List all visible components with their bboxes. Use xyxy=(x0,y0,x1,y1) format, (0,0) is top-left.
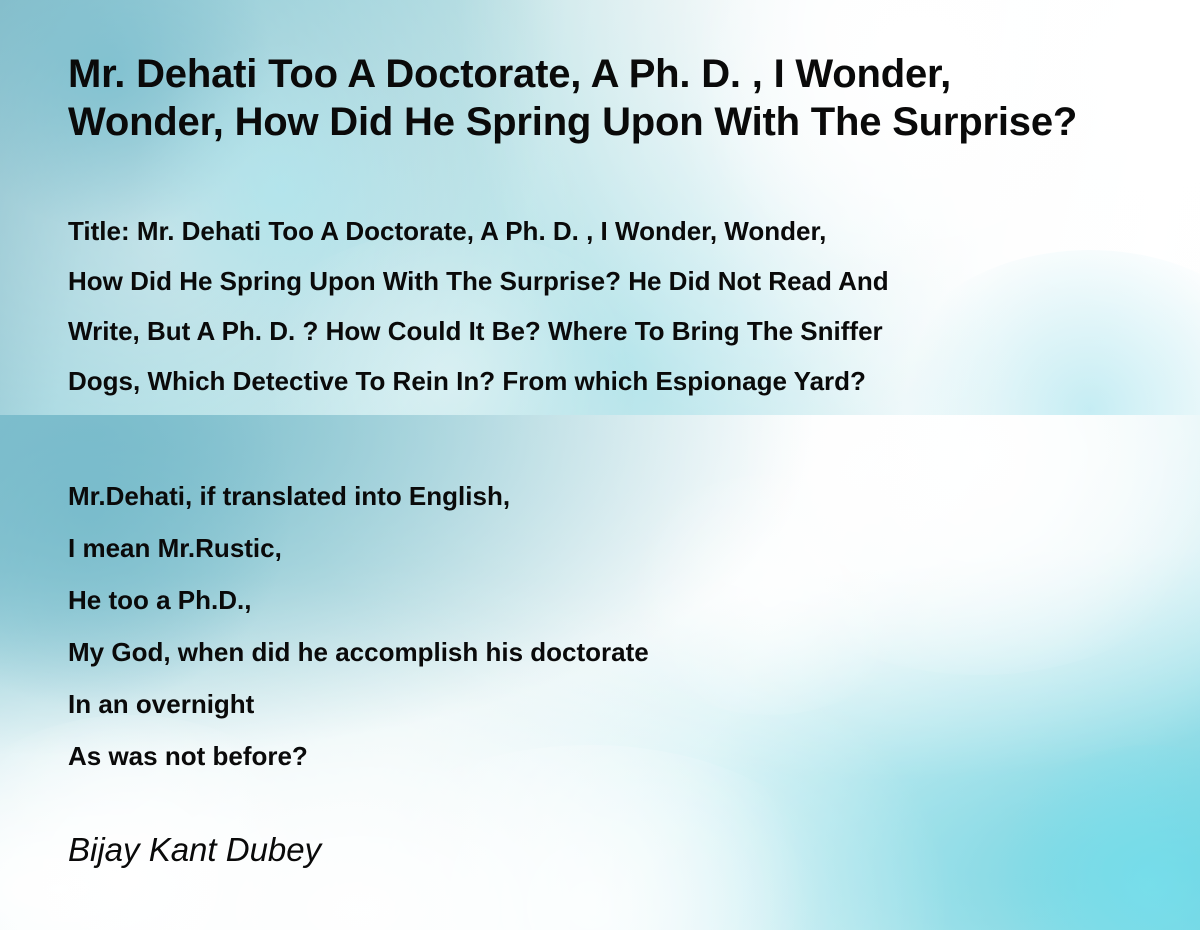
poem-image-card: Mr. Dehati Too A Doctorate, A Ph. D. , I… xyxy=(0,0,1200,930)
poem-body-line: I mean Mr.Rustic, xyxy=(68,522,1118,574)
poem-subtitle-line: Write, But A Ph. D. ? How Could It Be? W… xyxy=(68,306,1178,356)
author-name: Bijay Kant Dubey xyxy=(68,830,321,870)
poem-body-line: My God, when did he accomplish his docto… xyxy=(68,626,1118,678)
poem-subtitle: Title: Mr. Dehati Too A Doctorate, A Ph.… xyxy=(68,206,1178,406)
content-layer: Mr. Dehati Too A Doctorate, A Ph. D. , I… xyxy=(0,0,1200,930)
poem-title: Mr. Dehati Too A Doctorate, A Ph. D. , I… xyxy=(68,50,1178,146)
poem-body-line: Mr.Dehati, if translated into English, xyxy=(68,470,1118,522)
poem-subtitle-line: Title: Mr. Dehati Too A Doctorate, A Ph.… xyxy=(68,206,1178,256)
poem-body-line: He too a Ph.D., xyxy=(68,574,1118,626)
poem-author: Bijay Kant Dubey xyxy=(68,830,321,870)
poem-title-line: Wonder, How Did He Spring Upon With The … xyxy=(68,98,1178,146)
poem-body-line: In an overnight xyxy=(68,678,1118,730)
poem-subtitle-line: How Did He Spring Upon With The Surprise… xyxy=(68,256,1178,306)
poem-subtitle-line: Dogs, Which Detective To Rein In? From w… xyxy=(68,356,1178,406)
poem-title-line: Mr. Dehati Too A Doctorate, A Ph. D. , I… xyxy=(68,50,1178,98)
poem-body-line: As was not before? xyxy=(68,730,1118,782)
poem-body: Mr.Dehati, if translated into English, I… xyxy=(68,470,1118,782)
